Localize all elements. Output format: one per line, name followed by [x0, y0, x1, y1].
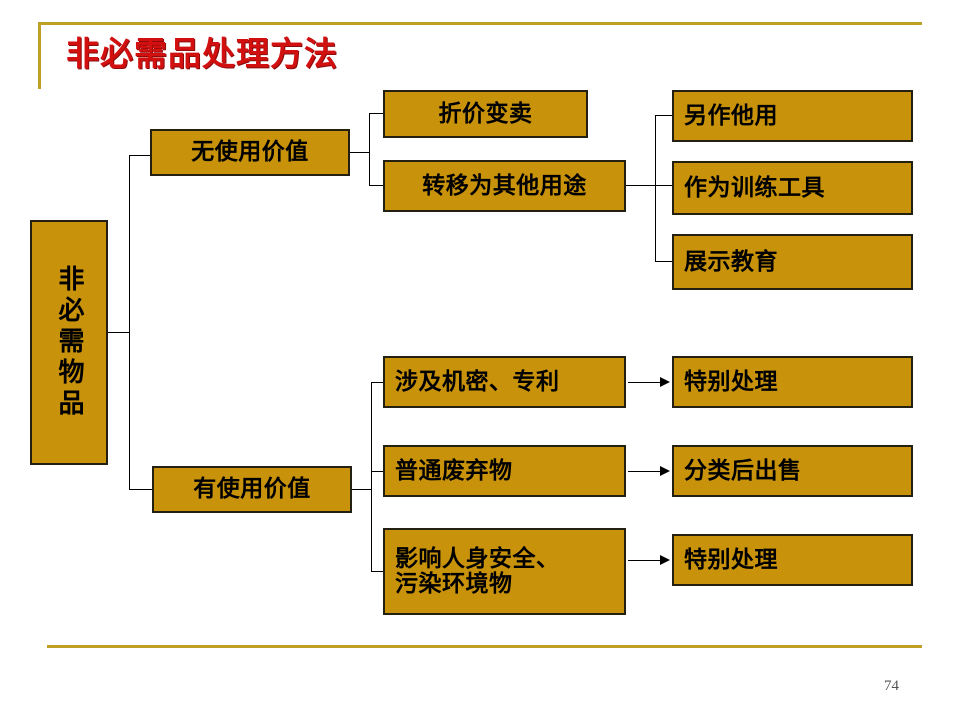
node-branch-has-use-value[interactable]: 有使用价值	[152, 466, 352, 513]
node-hazard-pollution[interactable]: 影响人身安全、 污染环境物	[383, 528, 626, 615]
connector-root-to-branch-2	[129, 489, 152, 490]
node-outcome-special-handling-1[interactable]: 特别处理	[672, 356, 913, 408]
connector-arrow-line-1	[628, 382, 662, 383]
connector-branch2-stub	[352, 489, 372, 490]
node-training-tool[interactable]: 作为训练工具	[672, 161, 913, 215]
bottom-accent-rule	[47, 645, 922, 648]
connector-branch1-trunk	[369, 113, 370, 186]
connector-root-stub	[108, 332, 130, 333]
arrow-head-icon-2	[660, 466, 670, 476]
connector-arrow-line-2	[628, 471, 662, 472]
node-discount-sale[interactable]: 折价变卖	[383, 90, 588, 138]
node-branch-no-use-value[interactable]: 无使用价值	[150, 129, 350, 176]
connector-branch1-stub	[350, 152, 370, 153]
node-root[interactable]: 非必需物品	[30, 220, 108, 465]
node-outcome-special-handling-2[interactable]: 特别处理	[672, 534, 913, 586]
node-display-education[interactable]: 展示教育	[672, 234, 913, 290]
connector-root-to-branch-1	[129, 155, 151, 156]
page-title: 非必需品处理方法	[66, 36, 338, 76]
node-outcome-sort-and-sell[interactable]: 分类后出售	[672, 445, 913, 497]
arrow-head-icon-1	[660, 377, 670, 387]
node-transfer-other-use[interactable]: 转移为其他用途	[383, 160, 626, 212]
connector-branch2-trunk	[371, 382, 372, 572]
connector-transfer-trunk	[655, 115, 656, 262]
top-accent-rule	[38, 22, 922, 25]
page-number: 74	[884, 678, 899, 695]
slide-canvas: 非必需品处理方法 74 非必需物品 无使用价值 折价变卖 转移为其他用途 另作他…	[0, 0, 960, 720]
node-general-waste[interactable]: 普通废弃物	[383, 445, 626, 497]
connector-branch1-to-child-2	[369, 185, 384, 186]
connector-transfer-to-child-1	[655, 115, 673, 116]
connector-arrow-line-3	[628, 560, 662, 561]
top-left-accent-rule	[38, 22, 41, 89]
arrow-head-icon-3	[660, 555, 670, 565]
node-other-purpose[interactable]: 另作他用	[672, 90, 913, 142]
connector-branch1-to-child-1	[369, 113, 384, 114]
connector-root-trunk	[129, 155, 130, 490]
connector-transfer-to-child-2	[655, 185, 673, 186]
connector-transfer-to-child-3	[655, 261, 673, 262]
connector-transfer-stub	[626, 185, 656, 186]
node-confidential-patent[interactable]: 涉及机密、专利	[383, 356, 626, 408]
